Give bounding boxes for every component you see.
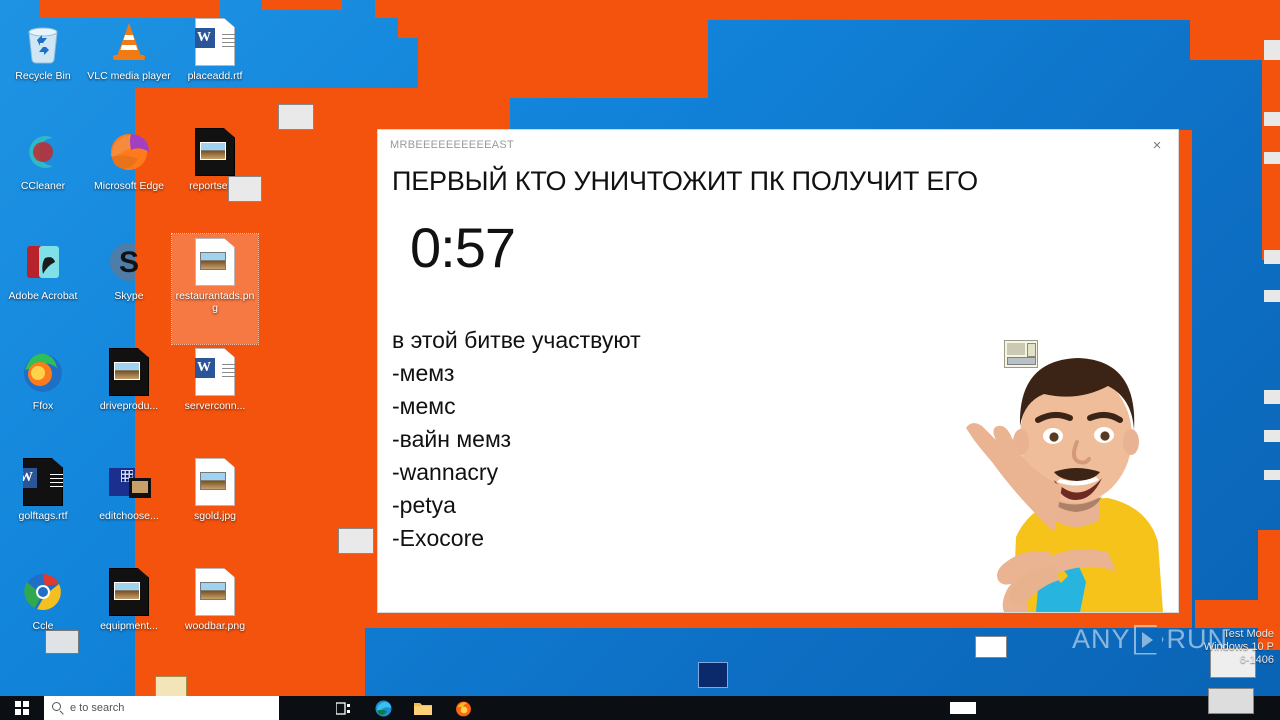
test-mode-overlay: Test Mode Windows 10 P 6-1406 <box>1204 628 1274 667</box>
mrbeast-photo <box>958 302 1174 612</box>
desktop-icon-ccleaner[interactable]: CCleaner <box>0 124 86 234</box>
glitch-block <box>357 95 427 123</box>
desktop-icon-serverconn[interactable]: Wserverconn... <box>172 344 258 454</box>
vlc-cone-icon <box>105 18 153 66</box>
desktop-icon-placeadd-rtf[interactable]: Wplaceadd.rtf <box>172 14 258 124</box>
drag-artifact <box>338 528 374 554</box>
window-title: MRBEEEEEEEEEEAST <box>378 139 514 151</box>
firefox-icon[interactable] <box>443 696 483 720</box>
search-input[interactable]: e to search <box>44 696 279 720</box>
word-doc-icon: W <box>191 348 239 396</box>
desktop-icon-label: Adobe Acrobat <box>1 290 85 302</box>
desktop-icon-grid[interactable]: Recycle Bin VLC media playerWplaceadd.rt… <box>0 14 260 674</box>
dark-image-file-icon <box>195 128 235 176</box>
headline-text: ПЕРВЫЙ КТО УНИЧТОЖИТ ПК ПОЛУЧИТ ЕГО <box>392 166 1164 197</box>
close-icon[interactable]: × <box>1136 130 1178 160</box>
desktop-icon-ccle[interactable]: Ccle <box>0 564 86 674</box>
firefox-icon <box>19 348 67 396</box>
search-icon <box>52 702 61 711</box>
editor-app-icon <box>105 458 153 506</box>
desktop-icon-label: Ffox <box>1 400 85 412</box>
desktop-icon-label: Skype <box>87 290 171 302</box>
app-window[interactable]: MRBEEEEEEEEEEAST × ПЕРВЫЙ КТО УНИЧТОЖИТ … <box>378 130 1178 612</box>
rtf-doc-icon: W <box>19 458 67 506</box>
word-doc-icon: W <box>191 18 239 66</box>
drag-artifact <box>1208 688 1254 714</box>
drag-artifact <box>45 630 79 654</box>
edge-window-strip <box>1264 152 1280 164</box>
edge-window-strip <box>1264 250 1280 264</box>
microsoft-edge-icon[interactable] <box>363 696 403 720</box>
glitch-block <box>1195 600 1280 628</box>
edge-icon <box>105 128 153 176</box>
acrobat-icon <box>19 238 67 286</box>
countdown-timer: 0:57 <box>410 215 1164 280</box>
desktop-icon-golftags-rtf[interactable]: Wgolftags.rtf <box>0 454 86 564</box>
glitch-block <box>375 0 705 18</box>
task-view-icon[interactable] <box>323 696 363 720</box>
image-file-icon <box>195 568 235 616</box>
desktop-icon-equipment[interactable]: equipment... <box>86 564 172 674</box>
desktop-icon-label: equipment... <box>87 620 171 632</box>
ccleaner-icon <box>19 128 67 176</box>
dark-image-icon <box>191 128 239 176</box>
adobe-acrobat-icon <box>19 238 67 286</box>
vlc-cone-icon <box>105 18 153 66</box>
desktop-icon-restaurantads-png[interactable]: restaurantads.png <box>172 234 258 344</box>
edge-icon <box>105 128 153 176</box>
dark-image-file-icon <box>109 348 149 396</box>
desktop-icon-ffox[interactable]: Ffox <box>0 344 86 454</box>
glitch-block <box>418 38 708 98</box>
desktop-icon-woodbar-png[interactable]: woodbar.png <box>172 564 258 674</box>
recycle-bin-icon <box>19 18 67 66</box>
desktop-icon-sgold-jpg[interactable]: sgold.jpg <box>172 454 258 564</box>
desktop-icon-label: placeadd.rtf <box>173 70 257 82</box>
windows-start-icon[interactable] <box>0 696 44 720</box>
dark-image-icon <box>105 568 153 616</box>
desktop-icon-label: Microsoft Edge <box>87 180 171 192</box>
skype-icon: S <box>105 238 153 286</box>
glitch-block <box>418 98 464 134</box>
drag-artifact <box>698 662 728 688</box>
glitch-block <box>1178 130 1192 612</box>
drag-artifact <box>228 176 262 202</box>
svg-text:S: S <box>119 246 139 279</box>
test-mode-line-3: 6-1406 <box>1204 654 1274 667</box>
hidden-window-thumb[interactable] <box>943 696 983 720</box>
edge-window-strip <box>1264 470 1280 480</box>
chrome-icon <box>19 568 67 616</box>
desktop-icon-label: driveprodu... <box>87 400 171 412</box>
edge-window-strip <box>1264 390 1280 404</box>
glitch-block <box>262 0 342 10</box>
skype-icon: S <box>105 238 153 286</box>
window-titlebar[interactable]: MRBEEEEEEEEEEAST × <box>378 130 1178 160</box>
desktop-icon-label: woodbar.png <box>173 620 257 632</box>
desktop-icon-label: serverconn... <box>173 400 257 412</box>
glitch-block <box>398 18 708 38</box>
desktop-icon-label: restaurantads.png <box>173 290 257 314</box>
desktop-icon-label: sgold.jpg <box>173 510 257 522</box>
png-image-icon <box>191 568 239 616</box>
editor-icon <box>105 458 153 506</box>
desktop-icon-driveprodu[interactable]: driveprodu... <box>86 344 172 454</box>
desktop-icon-skype[interactable]: S Skype <box>86 234 172 344</box>
edge-window-strip <box>1264 40 1280 60</box>
rtf-document-icon: W <box>23 458 63 506</box>
image-file-icon <box>195 458 235 506</box>
dark-image-icon <box>105 348 153 396</box>
search-placeholder: e to search <box>70 702 124 714</box>
desktop-icon-vlc-media-player[interactable]: VLC media player <box>86 14 172 124</box>
glitch-block <box>705 0 1280 20</box>
desktop-icon-label: golftags.rtf <box>1 510 85 522</box>
desktop-icon-label: Recycle Bin <box>1 70 85 82</box>
word-document-icon: W <box>195 18 235 66</box>
test-mode-line-1: Test Mode <box>1204 628 1274 641</box>
png-image-icon <box>191 238 239 286</box>
word-document-icon: W <box>195 348 235 396</box>
drag-artifact <box>975 636 1007 658</box>
desktop-icon-adobe-acrobat[interactable]: Adobe Acrobat <box>0 234 86 344</box>
firefox-icon <box>19 348 67 396</box>
drag-artifact <box>278 104 314 130</box>
desktop-icon-label: editchoose... <box>87 510 171 522</box>
png-image-icon <box>191 458 239 506</box>
test-mode-line-2: Windows 10 P <box>1204 641 1274 654</box>
edge-window-strip <box>1264 290 1280 302</box>
computer-icon-overlay <box>1004 340 1038 368</box>
image-file-icon <box>195 238 235 286</box>
window-body: ПЕРВЫЙ КТО УНИЧТОЖИТ ПК ПОЛУЧИТ ЕГО 0:57… <box>378 160 1178 612</box>
desktop-icon-label: VLC media player <box>87 70 171 82</box>
chrome-icon <box>19 568 67 616</box>
edge-window-strip <box>1264 112 1280 126</box>
taskbar[interactable]: e to search <box>0 696 1280 720</box>
file-explorer-icon[interactable] <box>403 696 443 720</box>
dark-image-file-icon <box>109 568 149 616</box>
desktop-icon-recycle-bin[interactable]: Recycle Bin <box>0 14 86 124</box>
desktop-icon-label: CCleaner <box>1 180 85 192</box>
edge-window-strip <box>1264 430 1280 442</box>
glitch-block <box>336 612 1192 628</box>
recycle-bin-icon <box>19 18 67 66</box>
desktop-icon-editchoose[interactable]: editchoose... <box>86 454 172 564</box>
desktop-icon-microsoft-edge[interactable]: Microsoft Edge <box>86 124 172 234</box>
ccleaner-icon <box>19 128 67 176</box>
